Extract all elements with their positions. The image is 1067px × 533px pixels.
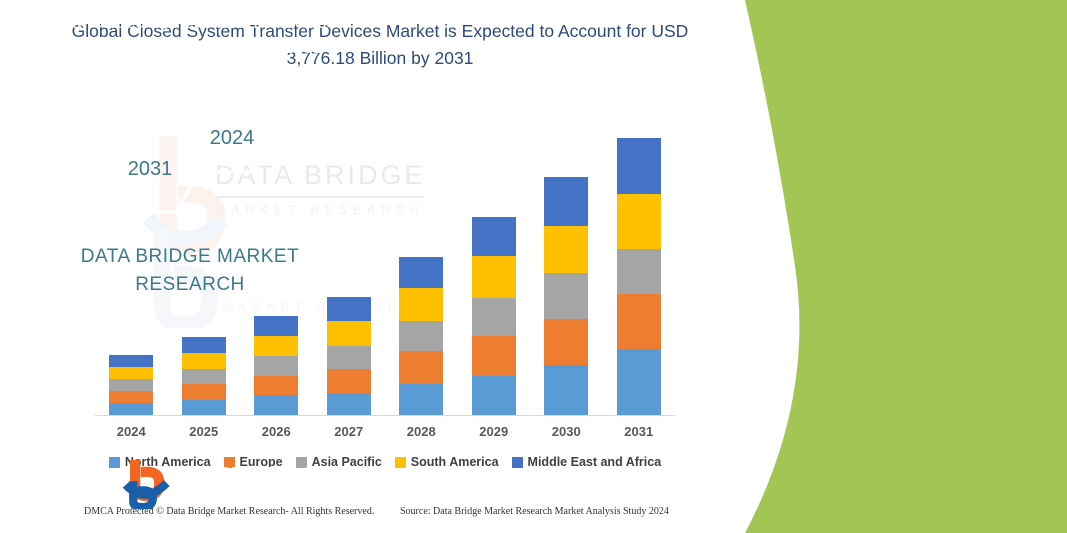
bar-segment[interactable] [399,351,443,384]
x-axis-label-2025: 2025 [168,424,240,439]
bar-segment[interactable] [327,297,371,321]
bar-segment[interactable] [182,337,226,353]
bar-segment[interactable] [399,288,443,321]
bar-segment[interactable] [327,393,371,416]
bar-column-2030[interactable] [544,177,588,416]
bar-segment[interactable] [544,177,588,226]
hexagon-badges: 2024 2031 [76,96,306,216]
bar-segment[interactable] [327,369,371,393]
brand-name-line1: DATA BRIDGE MARKET [0,243,380,271]
bar-segment[interactable] [254,336,298,356]
bar-segment[interactable] [109,355,153,367]
panel-heading: Global Closed System Transfer Devices Ma… [0,10,380,60]
x-axis-labels: 20242025202620272028202920302031 [95,424,675,444]
logo-subtitle: MARKET RESEARCH [186,493,332,503]
bar-segment[interactable] [182,384,226,400]
bar-segment[interactable] [254,356,298,376]
bar-segment[interactable] [109,379,153,391]
bar-segment[interactable] [617,249,661,294]
infographic-root: Global Closed System Transfer Devices Ma… [0,0,1067,533]
bar-segment[interactable] [617,294,661,349]
x-axis-label-2026: 2026 [240,424,312,439]
legend-label: Middle East and Africa [528,455,662,469]
brand-logo: DATA BRIDGE MARKET RESEARCH [122,455,362,511]
bar-segment[interactable] [327,346,371,369]
x-axis-label-2027: 2027 [313,424,385,439]
bar-segment[interactable] [182,353,226,369]
legend-label: South America [411,455,499,469]
bar-segment[interactable] [254,395,298,416]
bar-segment[interactable] [254,376,298,395]
bar-segment[interactable] [399,257,443,288]
bar-column-2029[interactable] [472,217,516,416]
bar-column-2028[interactable] [399,257,443,416]
bar-segment[interactable] [617,138,661,194]
bar-segment[interactable] [109,391,153,403]
bar-segment[interactable] [544,226,588,273]
x-axis-line [95,415,675,416]
x-axis-label-2028: 2028 [385,424,457,439]
legend-swatch-icon [109,457,120,468]
bar-segment[interactable] [472,336,516,376]
legend-swatch-icon [395,457,406,468]
bar-segment[interactable] [182,369,226,384]
bar-segment[interactable] [254,316,298,336]
bar-segment[interactable] [617,194,661,249]
logo-title: DATA BRIDGE [186,464,332,490]
bar-segment[interactable] [544,319,588,365]
footer-source: Source: Data Bridge Market Research Mark… [400,506,669,517]
brand-panel [687,0,1067,533]
legend-item[interactable]: South America [395,455,499,469]
bar-segment[interactable] [399,321,443,351]
bar-segment[interactable] [472,376,516,416]
panel-shape [687,0,1067,533]
x-axis-label-2030: 2030 [530,424,602,439]
brand-name: DATA BRIDGE MARKET RESEARCH [0,243,380,299]
bar-segment[interactable] [182,400,226,416]
x-axis-label-2031: 2031 [603,424,675,439]
x-axis-label-2024: 2024 [95,424,167,439]
bar-segment[interactable] [544,273,588,319]
bar-column-2025[interactable] [182,337,226,416]
brand-name-line2: RESEARCH [0,271,380,299]
bar-segment[interactable] [544,365,588,416]
bar-column-2031[interactable] [617,138,661,416]
logo-wordmark: DATA BRIDGE MARKET RESEARCH [186,464,332,503]
hexagon-2024-label: 2024 [210,127,255,149]
legend-item[interactable]: Middle East and Africa [512,455,662,469]
bar-segment[interactable] [472,298,516,336]
bar-segment[interactable] [109,367,153,379]
bar-segment[interactable] [399,384,443,416]
hexagon-2031-label: 2031 [128,158,173,180]
bar-column-2024[interactable] [109,355,153,416]
bar-segment[interactable] [472,256,516,298]
bar-segment[interactable] [472,217,516,256]
bar-segment[interactable] [617,349,661,416]
x-axis-label-2029: 2029 [458,424,530,439]
data-bridge-logo-icon [122,457,178,509]
bar-column-2026[interactable] [254,316,298,416]
bar-segment[interactable] [327,321,371,346]
bar-column-2027[interactable] [327,297,371,416]
legend-swatch-icon [512,457,523,468]
